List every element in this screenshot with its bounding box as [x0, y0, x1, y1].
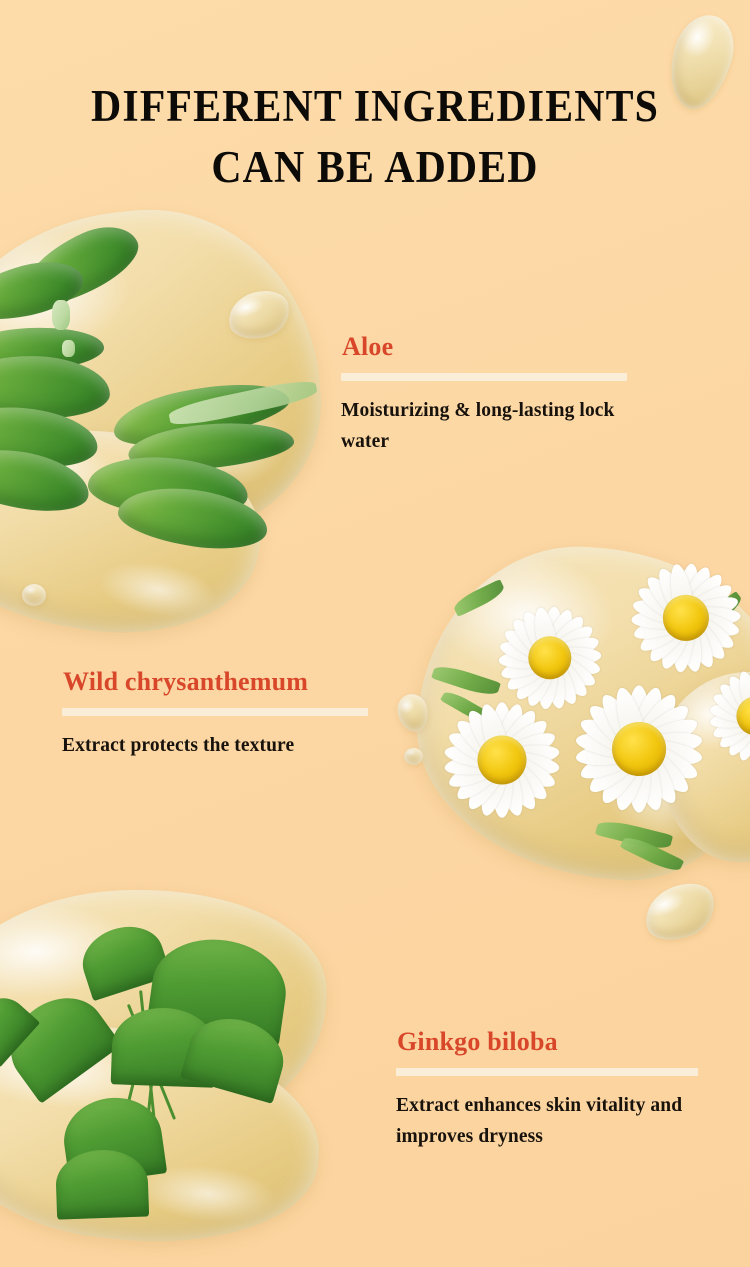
- title-line-1: DIFFERENT INGREDIENTS: [26, 76, 724, 137]
- flower-center: [478, 736, 527, 785]
- flower-center: [612, 722, 666, 776]
- mid-droplet-small: [404, 748, 423, 765]
- daisy-flower: [562, 672, 716, 826]
- title-line-2: CAN BE ADDED: [26, 137, 724, 198]
- ginkgo-droplet: [638, 876, 723, 948]
- ingredient-divider: [62, 708, 368, 716]
- daisy-flower: [700, 660, 750, 772]
- ingredient-block-aloe: Aloe Moisturizing & long-lasting lock wa…: [341, 333, 627, 458]
- daisy-flower: [432, 690, 572, 830]
- ingredient-name: Aloe: [342, 333, 627, 362]
- ingredient-block-ginkgo-biloba: Ginkgo biloba Extract enhances skin vita…: [396, 1028, 698, 1153]
- ingredient-block-wild-chrysanthemum: Wild chrysanthemum Extract protects the …: [62, 668, 368, 761]
- ingredient-divider: [341, 373, 627, 381]
- ingredients-infographic: DIFFERENT INGREDIENTS CAN BE ADDED Aloe …: [0, 0, 750, 1267]
- ingredient-description: Moisturizing & long-lasting lock water: [341, 395, 627, 458]
- ingredient-description: Extract protects the texture: [62, 730, 368, 762]
- ingredient-name: Ginkgo biloba: [397, 1028, 698, 1057]
- ingredient-name: Wild chrysanthemum: [63, 668, 368, 697]
- ingredient-description: Extract enhances skin vitality and impro…: [396, 1090, 698, 1153]
- left-small-droplet: [22, 584, 46, 606]
- page-title: DIFFERENT INGREDIENTS CAN BE ADDED: [0, 76, 750, 198]
- flower-center: [663, 595, 709, 641]
- ingredient-divider: [396, 1068, 698, 1076]
